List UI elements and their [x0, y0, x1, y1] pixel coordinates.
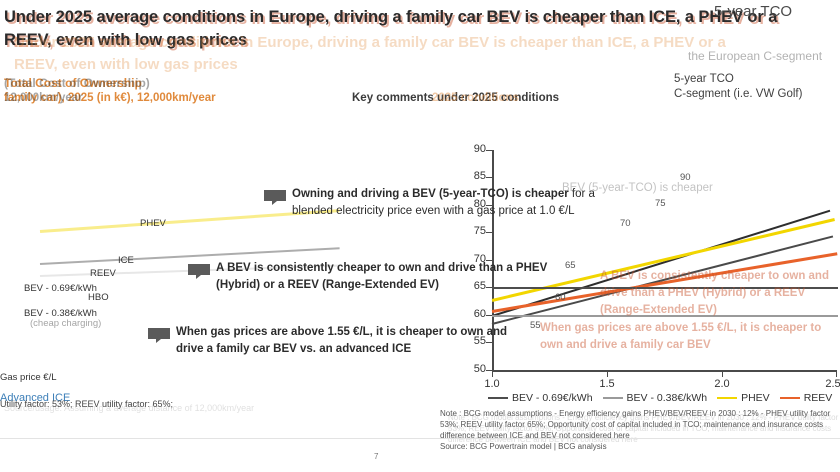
left-footnote-ghost: Source/usage: Assuming a average distanc…	[4, 402, 304, 415]
chart-legend: BEV - 0.69€/kWh BEV - 0.38€/kWh PHEV REE…	[488, 392, 838, 404]
y-tick-label: 75	[460, 225, 486, 237]
y-tick-label: 90	[460, 143, 486, 155]
x-tick-label: 2.5	[825, 378, 840, 390]
right-header-subtitle: the European C-segment	[688, 48, 828, 64]
legend-label-reev: REEV	[804, 392, 833, 404]
right-header-tco: 5-year TCO C-segment (i.e. VW Golf)	[674, 72, 834, 102]
legend-swatch-reev	[780, 397, 800, 399]
footer-divider	[0, 438, 840, 439]
left-label-phev: PHEV	[140, 218, 166, 229]
speech-bubble-icon	[262, 188, 288, 206]
x-axis	[492, 370, 837, 372]
x-tick-label: 1.0	[484, 378, 499, 390]
inline-value-75: 75	[655, 198, 666, 209]
callout-2-ghost: A BEV is consistently cheaper to own and…	[600, 268, 840, 319]
right-tco-line1: 5-year TCO	[674, 72, 834, 87]
right-tco-line2: C-segment (i.e. VW Golf)	[674, 87, 834, 102]
legend-label-bev-038: BEV - 0.38€/kWh	[627, 392, 708, 404]
chart-note-ghost: Note : BCG model assumptions - Energy ef…	[448, 412, 840, 445]
y-tick	[486, 177, 492, 178]
x-axis-title: Gas price €/L	[0, 372, 57, 383]
inline-value-55: 55	[530, 320, 541, 331]
x-tick-label: 1.5	[599, 378, 614, 390]
x-tick	[836, 372, 837, 377]
legend-swatch-bev-069	[488, 397, 508, 399]
callout-2-bold: A BEV is consistently cheaper to own and…	[216, 262, 547, 291]
page-subtitle-ghost: Under 2025 average conditions in Europe,…	[14, 32, 734, 76]
x-tick-label: 2.0	[714, 378, 729, 390]
legend-item-bev-069[interactable]: BEV - 0.69€/kWh	[488, 392, 593, 404]
y-tick	[486, 370, 492, 371]
page-number: 7	[374, 452, 378, 461]
legend-item-phev[interactable]: PHEV	[717, 392, 770, 404]
legend-label-bev-069: BEV - 0.69€/kWh	[512, 392, 593, 404]
key-comments-heading-ghost: 2025 conditions	[432, 92, 519, 104]
tco-line-chart: 1.0 1.5 2.0 2.5 50 55 60 65 70 75 80 85 …	[0, 120, 840, 370]
y-tick-label: 85	[460, 170, 486, 182]
left-label-bev-069: BEV - 0.69€/kWh	[24, 283, 97, 294]
legend-swatch-bev-038	[603, 397, 623, 399]
callout-3-ghost: When gas prices are above 1.55 €/L, it i…	[540, 320, 840, 354]
left-label-ice: ICE	[118, 255, 134, 266]
speech-bubble-icon	[186, 262, 212, 280]
legend-item-bev-038[interactable]: BEV - 0.38€/kWh	[603, 392, 708, 404]
left-label-hbo: HBO	[88, 292, 109, 303]
callout-3: When gas prices are above 1.55 €/L, it i…	[176, 324, 516, 358]
callout-2: A BEV is consistently cheaper to own and…	[216, 260, 576, 294]
legend-swatch-phev	[717, 397, 737, 399]
left-label-bev-038-note: (cheap charging)	[30, 318, 101, 329]
y-tick	[486, 232, 492, 233]
y-tick-label: 60	[460, 308, 486, 320]
chart-title-alt: (Total Cost of Ownership)	[4, 76, 524, 90]
y-tick-label: 50	[460, 363, 486, 375]
callout-1-bold: Owning and driving a BEV (5-year-TCO) is…	[292, 188, 569, 200]
x-tick	[492, 372, 493, 377]
callout-3-bold: When gas prices are above 1.55 €/L, it i…	[176, 326, 507, 355]
callout-1-ghost: BEV (5-year-TCO) is cheaper	[562, 180, 840, 197]
x-tick	[722, 372, 723, 377]
legend-label-phev: PHEV	[741, 392, 770, 404]
speech-bubble-icon	[146, 326, 172, 344]
right-header-title: 5-year TCO	[714, 2, 834, 22]
y-tick	[486, 150, 492, 151]
left-label-reev: REEV	[90, 268, 116, 279]
x-tick	[607, 372, 608, 377]
legend-item-reev[interactable]: REEV	[780, 392, 833, 404]
